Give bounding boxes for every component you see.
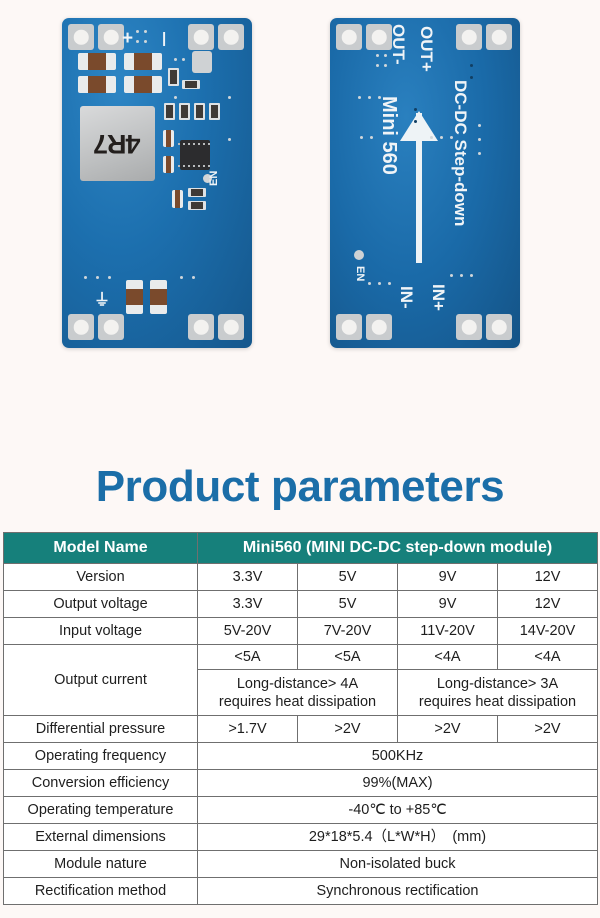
mount-pad (218, 314, 244, 340)
mount-pad (336, 314, 362, 340)
smd-capacitor (126, 280, 143, 314)
silk-out-plus-label: OUT+ (416, 26, 436, 72)
silk-product-label: DC-DC Step-down (450, 80, 470, 226)
smd-resistor (168, 68, 179, 86)
table-row-operating-frequency: Operating frequency 500KHz (4, 743, 598, 770)
silk-in-minus-label: IN- (396, 286, 416, 309)
smd-capacitor (163, 130, 174, 147)
test-point (354, 250, 364, 260)
silk-plus-label: + (122, 28, 133, 50)
cell-value: 5V-20V (198, 618, 298, 645)
silk-ground-symbol: ⏚ (94, 286, 110, 310)
row-label: Differential pressure (4, 716, 198, 743)
table-row-operating-temperature: Operating temperature -40℃ to +85℃ (4, 797, 598, 824)
cell-value: 12V (498, 564, 598, 591)
mount-pad (456, 24, 482, 50)
cell-value-merged: 29*18*5.4（L*W*H） (mm) (198, 824, 598, 851)
cell-value: >2V (298, 716, 398, 743)
cell-value: 3.3V (198, 564, 298, 591)
cell-value-merged: -40℃ to +85℃ (198, 797, 598, 824)
row-label: Conversion efficiency (4, 770, 198, 797)
note-line-1: Long-distance> 4A (200, 675, 395, 693)
row-label: Operating frequency (4, 743, 198, 770)
table-row-output-voltage: Output voltage 3.3V 5V 9V 12V (4, 591, 598, 618)
mount-pad (456, 314, 482, 340)
mount-pad (68, 24, 94, 50)
table-row-input-voltage: Input voltage 5V-20V 7V-20V 11V-20V 14V-… (4, 618, 598, 645)
cell-value-merged: 99%(MAX) (198, 770, 598, 797)
row-label: Output current (4, 645, 198, 716)
cell-value: 12V (498, 591, 598, 618)
table-row-external-dimensions: External dimensions 29*18*5.4（L*W*H） (mm… (4, 824, 598, 851)
table-header-row: Model Name Mini560 (MINI DC-DC step-down… (4, 533, 598, 564)
smd-capacitor (163, 156, 174, 173)
silk-out-minus-label: OUT- (388, 24, 408, 65)
table-row-version: Version 3.3V 5V 9V 12V (4, 564, 598, 591)
cell-value: <4A (398, 645, 498, 670)
silk-bar-mark: | (162, 30, 166, 47)
inductor-4r7: 4R7 (80, 106, 155, 181)
row-label: Operating temperature (4, 797, 198, 824)
cell-value: <5A (298, 645, 398, 670)
page-title: Product parameters (0, 462, 600, 512)
cell-value: 7V-20V (298, 618, 398, 645)
row-label: Output voltage (4, 591, 198, 618)
smd-capacitor (124, 53, 162, 70)
cell-value-merged: Synchronous rectification (198, 878, 598, 905)
smd-resistor (182, 80, 200, 89)
smd-capacitor (172, 190, 183, 208)
cell-value: >2V (498, 716, 598, 743)
smd-capacitor (124, 76, 162, 93)
smd-capacitor (78, 76, 116, 93)
smd-capacitor (150, 280, 167, 314)
mount-pad (218, 24, 244, 50)
header-model-name: Model Name (4, 533, 198, 564)
row-label: Version (4, 564, 198, 591)
mount-pad (188, 24, 214, 50)
cell-value: <4A (498, 645, 598, 670)
mount-pad (68, 314, 94, 340)
row-label: Input voltage (4, 618, 198, 645)
smd-resistor (194, 103, 205, 120)
mount-pad (98, 314, 124, 340)
table-row-output-current: Output current <5A <5A <4A <4A (4, 645, 598, 670)
table-row-rectification-method: Rectification method Synchronous rectifi… (4, 878, 598, 905)
silk-enable-label: EN (354, 266, 366, 281)
product-photo-strip: + | 4R7 EN ⏚ (0, 0, 600, 362)
cell-value-merged: 500KHz (198, 743, 598, 770)
table-row-differential-pressure: Differential pressure >1.7V >2V >2V >2V (4, 716, 598, 743)
header-model-value: Mini560 (MINI DC-DC step-down module) (198, 533, 598, 564)
note-line-1: Long-distance> 3A (400, 675, 595, 693)
silk-model-label: Mini 560 (377, 96, 400, 175)
mount-pad (336, 24, 362, 50)
mount-pad (98, 24, 124, 50)
note-line-2: requires heat dissipation (200, 693, 395, 711)
cell-value: 11V-20V (398, 618, 498, 645)
smd-resistor (188, 201, 206, 210)
note-line-2: requires heat dissipation (400, 693, 595, 711)
cell-value: >2V (398, 716, 498, 743)
cell-note-high: Long-distance> 3A requires heat dissipat… (398, 670, 598, 716)
cell-value: >1.7V (198, 716, 298, 743)
table-row-conversion-efficiency: Conversion efficiency 99%(MAX) (4, 770, 598, 797)
cell-note-low: Long-distance> 4A requires heat dissipat… (198, 670, 398, 716)
cell-value: 5V (298, 564, 398, 591)
cell-value-merged: Non-isolated buck (198, 851, 598, 878)
table-row-module-nature: Module nature Non-isolated buck (4, 851, 598, 878)
mount-pad (486, 314, 512, 340)
row-label: Module nature (4, 851, 198, 878)
cell-value: 3.3V (198, 591, 298, 618)
pcb-bottom-view-image: OUT+ OUT- DC-DC Step-down Mini 560 EN IN… (330, 18, 520, 348)
smd-capacitor (78, 53, 116, 70)
smd-resistor (179, 103, 190, 120)
inductor-marking: 4R7 (94, 128, 141, 159)
silk-en-label: EN (208, 171, 220, 186)
electrolytic-cap (192, 51, 212, 73)
direction-arrow-icon (416, 113, 422, 263)
cell-value: 9V (398, 591, 498, 618)
cell-value: <5A (198, 645, 298, 670)
mount-pad (188, 314, 214, 340)
regulator-ic (180, 140, 210, 170)
silk-in-plus-label: IN+ (428, 284, 448, 311)
cell-value: 5V (298, 591, 398, 618)
mount-pad (486, 24, 512, 50)
smd-resistor (188, 188, 206, 197)
mount-pad (366, 314, 392, 340)
product-parameters-table: Model Name Mini560 (MINI DC-DC step-down… (3, 532, 598, 905)
smd-resistor (164, 103, 175, 120)
cell-value: 9V (398, 564, 498, 591)
pcb-top-view-image: + | 4R7 EN ⏚ (62, 18, 252, 348)
cell-value: 14V-20V (498, 618, 598, 645)
smd-resistor (209, 103, 220, 120)
row-label: Rectification method (4, 878, 198, 905)
row-label: External dimensions (4, 824, 198, 851)
